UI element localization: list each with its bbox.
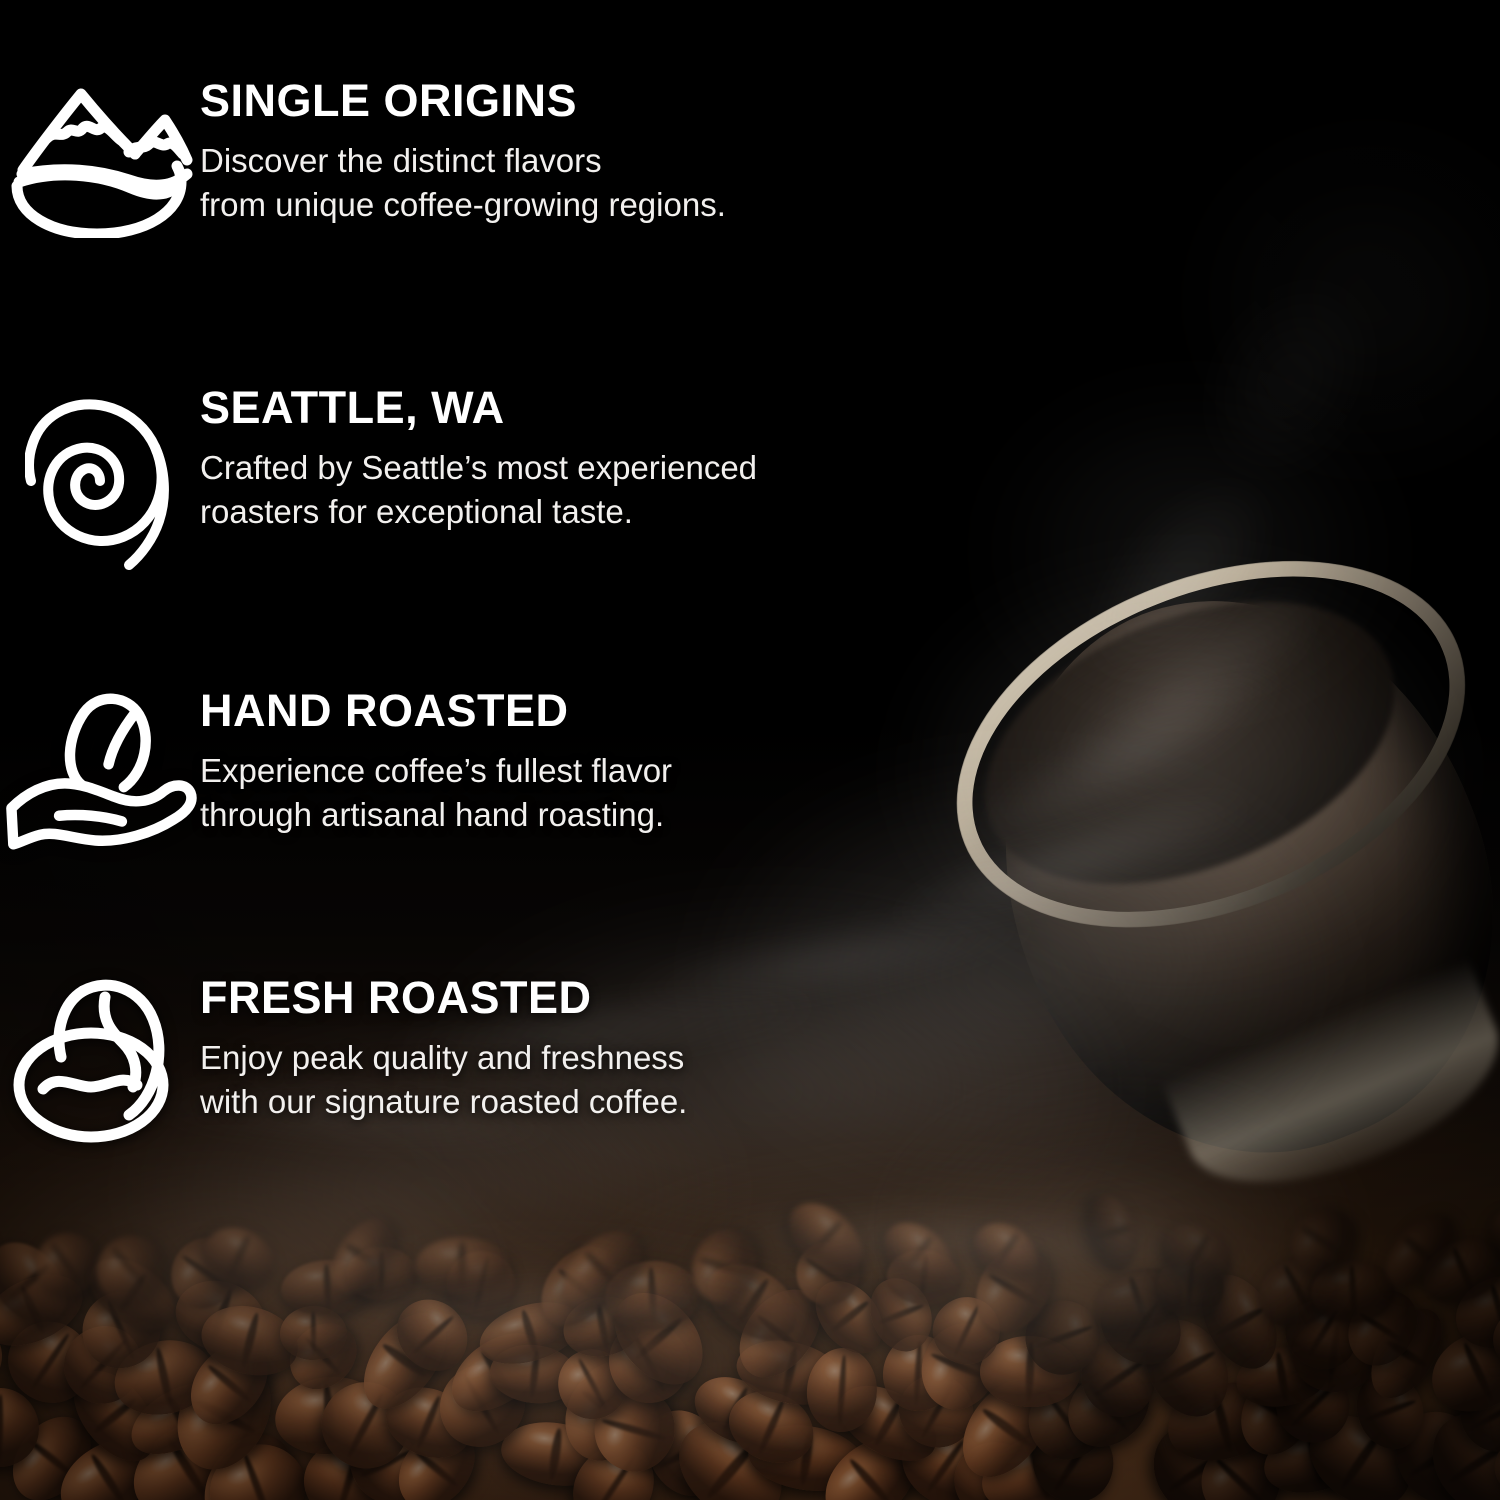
feature-item-single-origins: SINGLE ORIGINS Discover the distinct fla…	[0, 78, 726, 238]
hand-holding-bean-icon	[0, 688, 200, 853]
feature-title: SEATTLE, WA	[200, 385, 757, 430]
feature-text-block: HAND ROASTED Experience coffee’s fullest…	[200, 688, 672, 837]
feature-item-fresh-roasted: FRESH ROASTED Enjoy peak quality and fre…	[0, 975, 687, 1150]
coffee-bean-pile	[0, 1130, 1500, 1500]
feature-description: Crafted by Seattle’s most experienced ro…	[200, 446, 757, 534]
feature-description: Experience coffee’s fullest flavor throu…	[200, 749, 672, 837]
feature-item-hand-roasted: HAND ROASTED Experience coffee’s fullest…	[0, 688, 672, 853]
fingerprint-icon	[0, 385, 200, 575]
feature-text-block: SINGLE ORIGINS Discover the distinct fla…	[200, 78, 726, 227]
feature-item-seattle-wa: SEATTLE, WA Crafted by Seattle’s most ex…	[0, 385, 757, 575]
promo-graphic: SINGLE ORIGINS Discover the distinct fla…	[0, 0, 1500, 1500]
mountain-coffee-bean-icon	[0, 78, 200, 238]
feature-text-block: FRESH ROASTED Enjoy peak quality and fre…	[200, 975, 687, 1124]
two-coffee-beans-icon	[0, 975, 200, 1150]
coffee-bean	[415, 1237, 509, 1294]
feature-text-block: SEATTLE, WA Crafted by Seattle’s most ex…	[200, 385, 757, 534]
feature-description: Discover the distinct flavors from uniqu…	[200, 139, 726, 227]
coffee-bean	[1078, 1188, 1145, 1277]
feature-title: FRESH ROASTED	[200, 975, 687, 1020]
feature-title: SINGLE ORIGINS	[200, 78, 726, 123]
feature-title: HAND ROASTED	[200, 688, 672, 733]
feature-description: Enjoy peak quality and freshness with ou…	[200, 1036, 687, 1124]
